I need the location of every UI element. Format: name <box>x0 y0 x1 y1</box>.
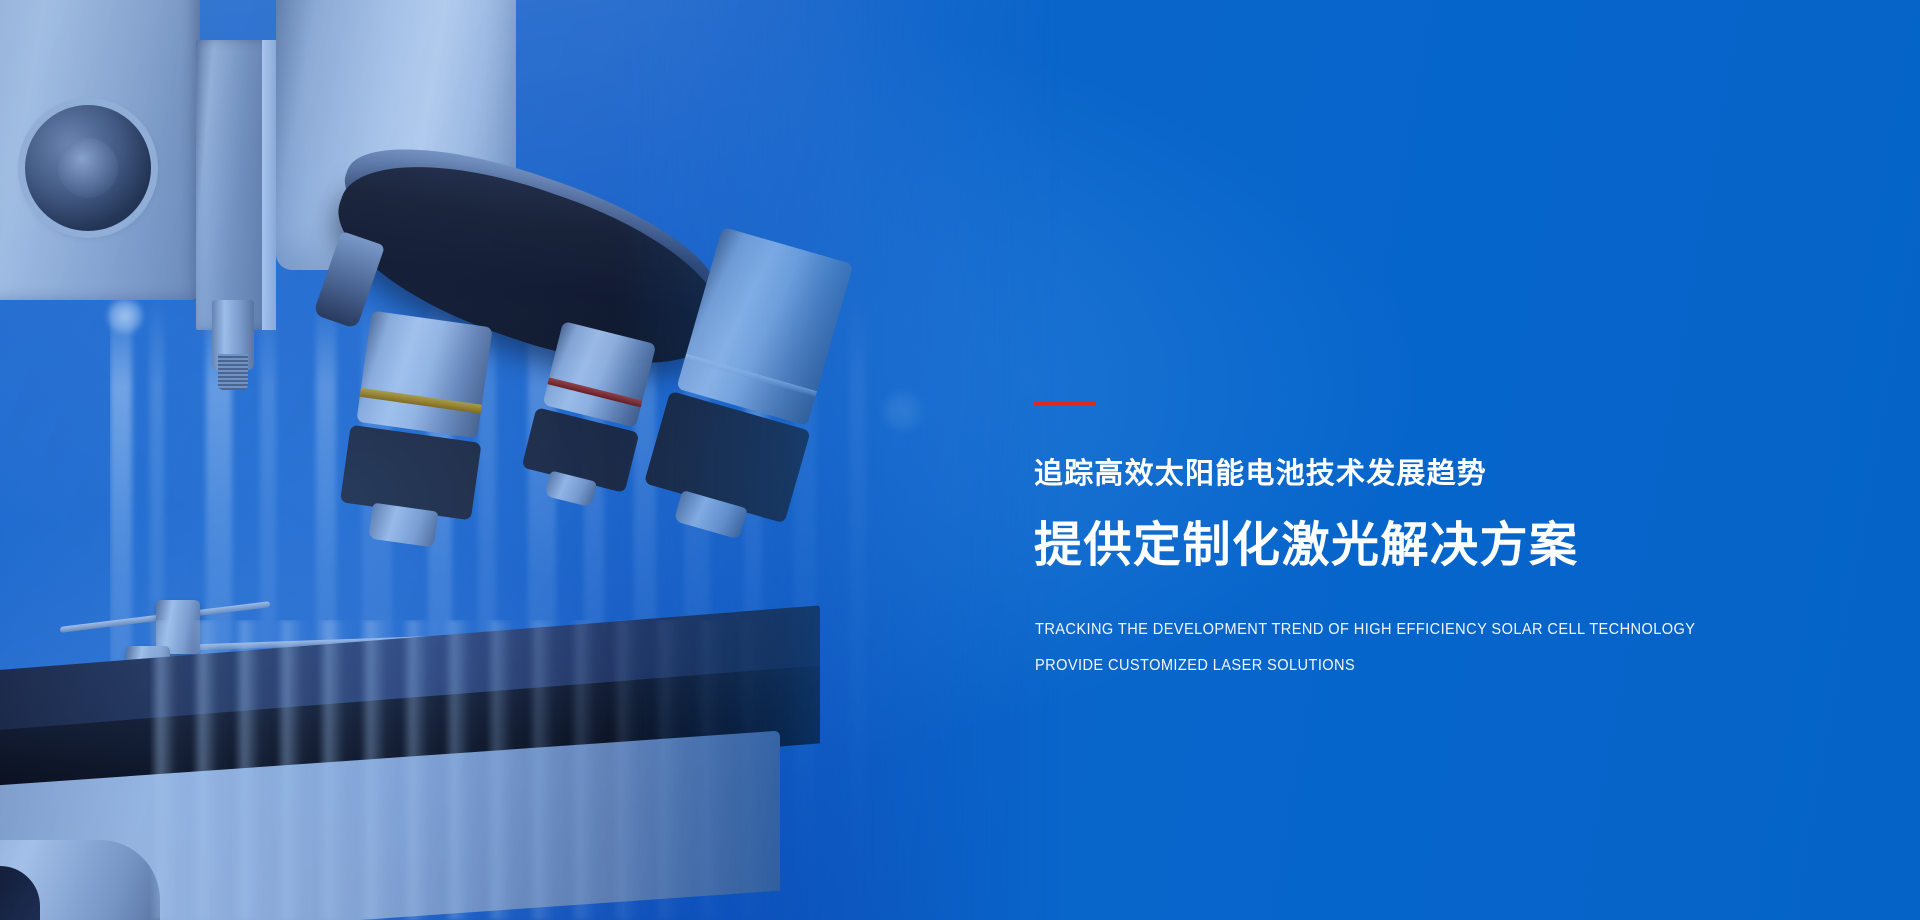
hero-headline-cn: 提供定制化激光解决方案 <box>1034 522 1579 570</box>
microscope-photo <box>0 0 1060 920</box>
bottom-light-glow <box>150 620 790 920</box>
microscope-rail <box>196 40 272 330</box>
adjustment-screw <box>212 300 254 370</box>
hero-text-block: 追踪高效太阳能电池技术发展趋势 提供定制化激光解决方案 TRACKING THE… <box>1034 0 1894 920</box>
bokeh-dot <box>105 296 145 336</box>
bokeh-dot <box>880 388 926 434</box>
focus-knob-icon <box>25 105 151 231</box>
microscope-rail-highlight <box>262 40 276 330</box>
hero-banner: 追踪高效太阳能电池技术发展趋势 提供定制化激光解决方案 TRACKING THE… <box>0 0 1920 920</box>
hero-subheadline-en-line1: TRACKING THE DEVELOPMENT TREND OF HIGH E… <box>1035 622 1843 638</box>
red-accent-bar <box>1034 401 1096 406</box>
hero-subheadline-en-line2: PROVIDE CUSTOMIZED LASER SOLUTIONS <box>1035 658 1843 674</box>
hero-subheadline-cn: 追踪高效太阳能电池技术发展趋势 <box>1034 460 1487 489</box>
